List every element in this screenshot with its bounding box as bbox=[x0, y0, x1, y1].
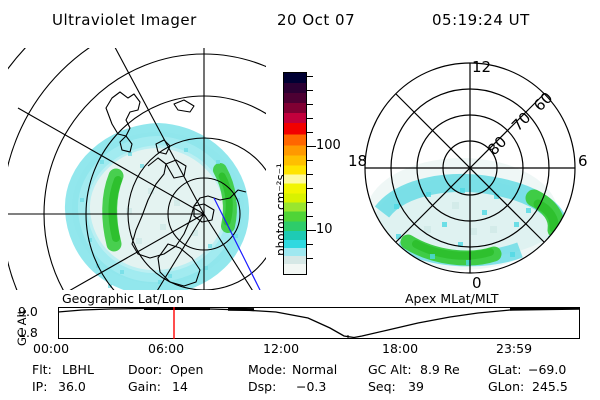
colorbar-tick-major bbox=[307, 146, 316, 147]
header-bar: Ultraviolet Imager 20 Oct 07 05:19:24 UT bbox=[0, 6, 600, 30]
status-glon-label: GLon: bbox=[488, 379, 524, 394]
colorbar-axis-label: photon cm⁻²s⁻¹ bbox=[260, 88, 280, 258]
colorbar-tick bbox=[307, 216, 313, 217]
apex-plot-svg: 12 18 6 0 60 70 80 bbox=[342, 46, 598, 296]
colorbar-tick bbox=[307, 104, 313, 105]
status-ip-value: 36.0 bbox=[58, 379, 86, 394]
status-glat-value: −69.0 bbox=[528, 362, 566, 377]
colorbar-tick-label-100: 100 bbox=[316, 139, 341, 152]
status-flt-value: LBHL bbox=[62, 362, 94, 377]
status-ip-label: IP: bbox=[32, 379, 47, 394]
orbit-x-tick-0000: 00:00 bbox=[33, 341, 69, 356]
colorbar-tick bbox=[307, 76, 313, 77]
status-dsp-label: Dsp: bbox=[248, 379, 276, 394]
apex-panel-caption: Apex MLat/MLT bbox=[405, 291, 499, 306]
apex-mlat-mlt-panel[interactable]: 12 18 6 0 60 70 80 bbox=[342, 46, 598, 296]
colorbar-gradient bbox=[283, 72, 307, 275]
orbit-x-tick-2359: 23:59 bbox=[496, 341, 532, 356]
colorbar-group: photon cm⁻²s⁻¹ 100 10 bbox=[262, 60, 342, 290]
orbit-y-tick-high: 9.0 bbox=[18, 304, 38, 319]
status-block: Flt: LBHL Door: Open Mode: Normal GC Alt… bbox=[0, 362, 600, 396]
observation-date: 20 Oct 07 bbox=[277, 11, 355, 29]
mlt-label-12: 12 bbox=[472, 58, 491, 76]
colorbar-tick bbox=[307, 118, 313, 119]
orbit-x-tick-0600: 06:00 bbox=[148, 341, 184, 356]
orbit-x-tick-1200: 12:00 bbox=[263, 341, 299, 356]
orbit-y-tick-low: 1.8 bbox=[18, 325, 38, 340]
colorbar-tick-major bbox=[307, 230, 316, 231]
status-seq-label: Seq: bbox=[368, 379, 396, 394]
geographic-image-panel[interactable] bbox=[8, 48, 266, 290]
mlt-label-6: 6 bbox=[578, 152, 588, 170]
orbit-x-tick-1800: 18:00 bbox=[382, 341, 418, 356]
colorbar-tick bbox=[307, 202, 313, 203]
status-row-1: Flt: LBHL Door: Open Mode: Normal GC Alt… bbox=[0, 362, 600, 379]
status-dsp-value: −0.3 bbox=[296, 379, 326, 394]
status-door-label: Door: bbox=[128, 362, 162, 377]
instrument-title: Ultraviolet Imager bbox=[52, 11, 197, 29]
status-glon-value: 245.5 bbox=[532, 379, 568, 394]
mlat-label-70: 70 bbox=[508, 109, 534, 135]
mlt-label-18: 18 bbox=[348, 152, 367, 170]
status-gcalt-label: GC Alt: bbox=[368, 362, 412, 377]
status-row-2: IP: 36.0 Gain: 14 Dsp: −0.3 Seq: 39 GLon… bbox=[0, 379, 600, 396]
mlt-label-0: 0 bbox=[472, 274, 482, 292]
orbit-y-axis-label: GC Alt bbox=[2, 300, 18, 346]
colorbar-tick bbox=[307, 258, 313, 259]
observation-time: 05:19:24 UT bbox=[432, 11, 530, 29]
mlat-label-60: 60 bbox=[530, 89, 556, 115]
status-gain-label: Gain: bbox=[128, 379, 161, 394]
orbit-plot-svg bbox=[58, 307, 580, 339]
colorbar-tick bbox=[307, 244, 313, 245]
status-gcalt-value: 8.9 Re bbox=[420, 362, 460, 377]
status-door-value: Open bbox=[170, 362, 203, 377]
geographic-plot-svg bbox=[8, 48, 266, 290]
status-glat-label: GLat: bbox=[488, 362, 521, 377]
colorbar-tick bbox=[307, 132, 313, 133]
colorbar-tick bbox=[307, 174, 313, 175]
mlat-label-80: 80 bbox=[484, 133, 510, 159]
status-mode-value: Normal bbox=[292, 362, 337, 377]
colorbar-tick bbox=[307, 90, 313, 91]
status-gain-value: 14 bbox=[172, 379, 188, 394]
colorbar-tick-label-10: 10 bbox=[316, 223, 333, 236]
status-seq-value: 39 bbox=[408, 379, 424, 394]
geographic-panel-caption: Geographic Lat/Lon bbox=[62, 291, 184, 306]
status-flt-label: Flt: bbox=[32, 362, 52, 377]
colorbar-tick bbox=[307, 160, 313, 161]
orbit-altitude-plot[interactable] bbox=[58, 307, 580, 339]
colorbar-tick bbox=[307, 188, 313, 189]
status-mode-label: Mode: bbox=[248, 362, 286, 377]
